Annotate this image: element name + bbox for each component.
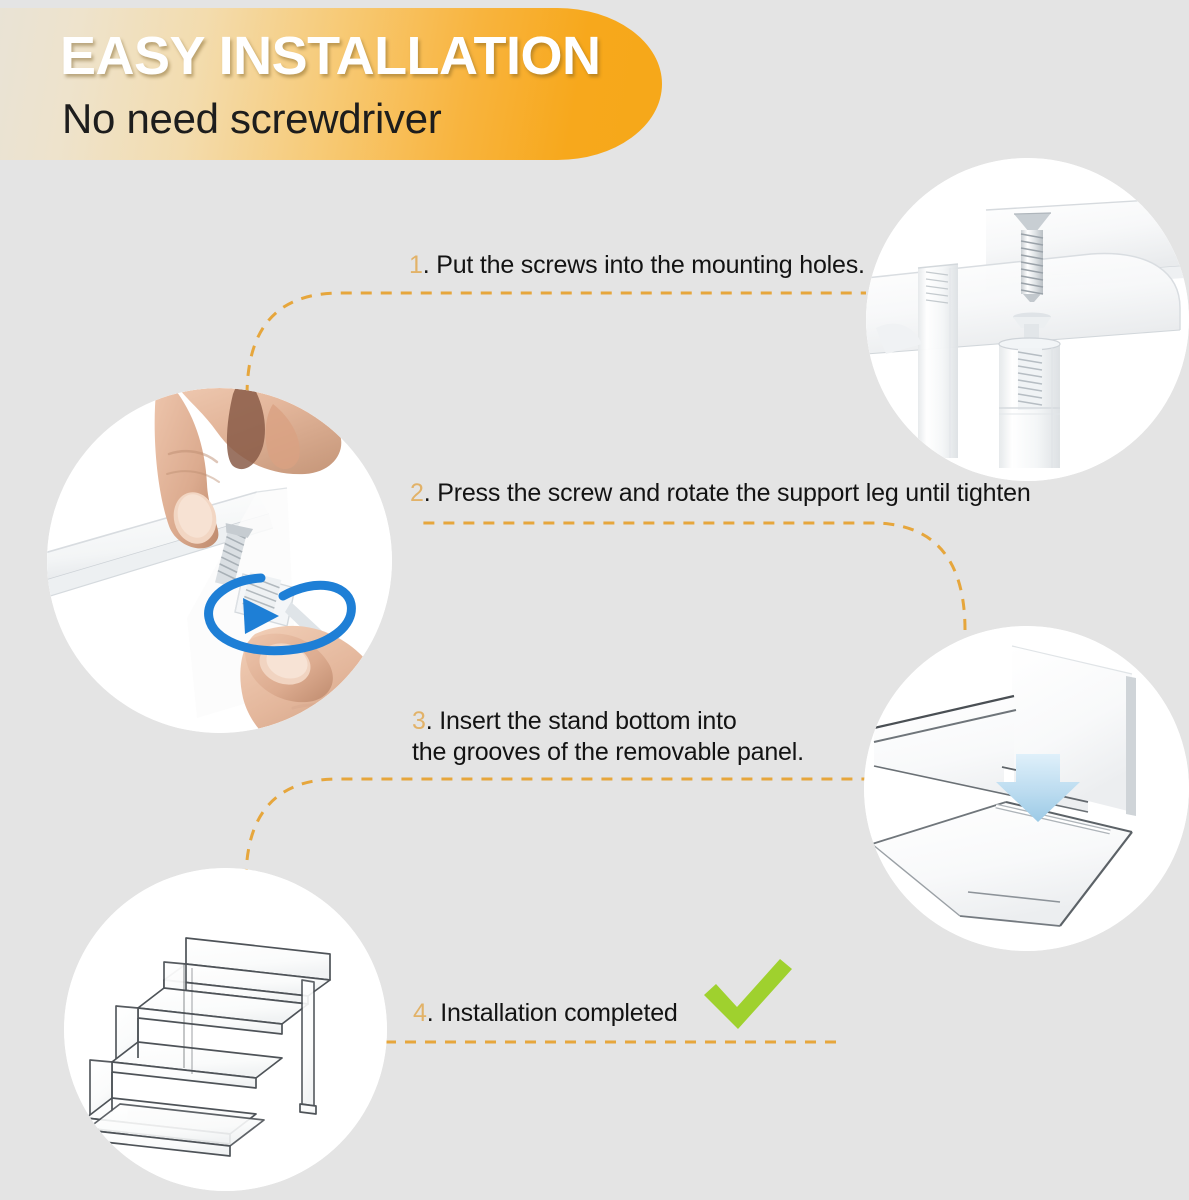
header-banner: EASY INSTALLATION No need screwdriver bbox=[0, 8, 662, 160]
step-3-text-line-1: Insert the stand bottom into bbox=[439, 707, 736, 735]
step-3-label: 3. Insert the stand bottom into the groo… bbox=[412, 706, 804, 767]
step-1-label: 1. Put the screws into the mounting hole… bbox=[409, 250, 865, 281]
page-subtitle: No need screwdriver bbox=[62, 98, 441, 140]
step-4-text-line-1: Installation completed bbox=[440, 999, 677, 1027]
step-2-separator: . bbox=[424, 479, 431, 507]
dash-segment-2 bbox=[420, 523, 965, 630]
check-mark-icon bbox=[700, 957, 796, 1033]
step-1-separator: . bbox=[423, 251, 430, 279]
photo-hand-rotating-support-leg bbox=[47, 388, 392, 733]
infographic-canvas: EASY INSTALLATION No need screwdriver bbox=[0, 0, 1189, 1200]
step-3-number: 3 bbox=[412, 707, 426, 735]
step-1-number: 1 bbox=[409, 251, 423, 279]
dash-segment-1 bbox=[247, 293, 866, 396]
photo-stand-bottom-into-groove bbox=[864, 626, 1189, 951]
step-4-label: 4. Installation completed bbox=[413, 998, 678, 1029]
support-leg-lower bbox=[999, 338, 1060, 468]
step-1-text-line-1: Put the screws into the mounting holes. bbox=[436, 251, 865, 279]
photo-screws-into-mounting-holes bbox=[866, 158, 1189, 481]
support-leg-left bbox=[918, 264, 958, 458]
dash-segment-3 bbox=[246, 779, 866, 880]
step-4-number: 4 bbox=[413, 999, 427, 1027]
step-3-separator: . bbox=[426, 707, 433, 735]
step-2-number: 2 bbox=[410, 479, 424, 507]
step-2-label: 2. Press the screw and rotate the suppor… bbox=[410, 478, 1031, 509]
step-2-text-line-1: Press the screw and rotate the support l… bbox=[437, 479, 1030, 507]
photo-finished-acrylic-riser bbox=[64, 868, 387, 1191]
page-title: EASY INSTALLATION bbox=[60, 29, 601, 83]
step-3-line-1-row: 3. Insert the stand bottom into bbox=[412, 706, 804, 737]
step-3-text-line-2: the grooves of the removable panel. bbox=[412, 737, 804, 768]
step-4-separator: . bbox=[427, 999, 434, 1027]
